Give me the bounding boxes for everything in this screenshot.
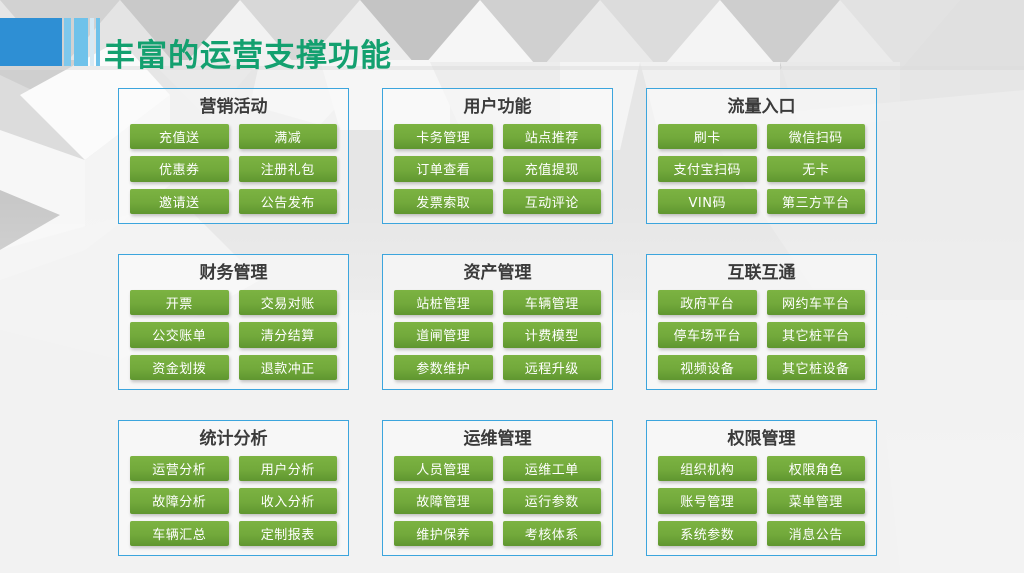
- page-title: 丰富的运营支撑功能: [104, 30, 392, 75]
- feature-button[interactable]: 站桩管理: [394, 290, 493, 315]
- feature-button[interactable]: 交易对账: [239, 290, 338, 315]
- card-title: 财务管理: [130, 261, 337, 285]
- feature-card: 用户功能 卡务管理 站点推荐 订单查看 充值提现 发票索取 互动评论: [382, 88, 613, 224]
- feature-button[interactable]: 公告发布: [239, 189, 338, 214]
- card-button-group: 刷卡 微信扫码 支付宝扫码 无卡 VIN码 第三方平台: [658, 124, 865, 214]
- feature-button[interactable]: 用户分析: [239, 456, 338, 481]
- feature-button[interactable]: 考核体系: [503, 521, 602, 546]
- card-title: 统计分析: [130, 427, 337, 451]
- feature-button[interactable]: 清分结算: [239, 322, 338, 347]
- feature-button[interactable]: 刷卡: [658, 124, 757, 149]
- header-accent-bar-light1: [74, 18, 88, 66]
- slide-root: 丰富的运营支撑功能 营销活动 充值送 满减 优惠券 注册礼包 邀请送 公告发布 …: [0, 0, 1024, 573]
- feature-button[interactable]: 优惠券: [130, 156, 229, 181]
- feature-button[interactable]: 组织机构: [658, 456, 757, 481]
- feature-button[interactable]: 计费模型: [503, 322, 602, 347]
- feature-button[interactable]: 注册礼包: [239, 156, 338, 181]
- feature-button[interactable]: 满减: [239, 124, 338, 149]
- feature-card: 流量入口 刷卡 微信扫码 支付宝扫码 无卡 VIN码 第三方平台: [646, 88, 877, 224]
- card-button-group: 站桩管理 车辆管理 道闸管理 计费模型 参数维护 远程升级: [394, 290, 601, 380]
- card-button-group: 运营分析 用户分析 故障分析 收入分析 车辆汇总 定制报表: [130, 456, 337, 546]
- card-button-group: 开票 交易对账 公交账单 清分结算 资金划拨 退款冲正: [130, 290, 337, 380]
- feature-card: 统计分析 运营分析 用户分析 故障分析 收入分析 车辆汇总 定制报表: [118, 420, 349, 556]
- feature-button[interactable]: 定制报表: [239, 521, 338, 546]
- feature-button[interactable]: 远程升级: [503, 355, 602, 380]
- feature-button[interactable]: 政府平台: [658, 290, 757, 315]
- feature-card: 财务管理 开票 交易对账 公交账单 清分结算 资金划拨 退款冲正: [118, 254, 349, 390]
- feature-button[interactable]: 视频设备: [658, 355, 757, 380]
- feature-card: 营销活动 充值送 满减 优惠券 注册礼包 邀请送 公告发布: [118, 88, 349, 224]
- card-button-group: 政府平台 网约车平台 停车场平台 其它桩平台 视频设备 其它桩设备: [658, 290, 865, 380]
- feature-card: 互联互通 政府平台 网约车平台 停车场平台 其它桩平台 视频设备 其它桩设备: [646, 254, 877, 390]
- feature-button[interactable]: 权限角色: [767, 456, 866, 481]
- card-title: 权限管理: [658, 427, 865, 451]
- feature-button[interactable]: 收入分析: [239, 488, 338, 513]
- feature-button[interactable]: 充值提现: [503, 156, 602, 181]
- header-accent-bar-dark: [0, 18, 62, 66]
- feature-button[interactable]: 充值送: [130, 124, 229, 149]
- feature-button[interactable]: 微信扫码: [767, 124, 866, 149]
- feature-button[interactable]: VIN码: [658, 189, 757, 214]
- card-button-group: 充值送 满减 优惠券 注册礼包 邀请送 公告发布: [130, 124, 337, 214]
- card-button-group: 人员管理 运维工单 故障管理 运行参数 维护保养 考核体系: [394, 456, 601, 546]
- feature-button[interactable]: 无卡: [767, 156, 866, 181]
- feature-button[interactable]: 维护保养: [394, 521, 493, 546]
- feature-card: 运维管理 人员管理 运维工单 故障管理 运行参数 维护保养 考核体系: [382, 420, 613, 556]
- feature-button[interactable]: 发票索取: [394, 189, 493, 214]
- feature-button[interactable]: 退款冲正: [239, 355, 338, 380]
- feature-button[interactable]: 网约车平台: [767, 290, 866, 315]
- feature-button[interactable]: 公交账单: [130, 322, 229, 347]
- feature-button[interactable]: 系统参数: [658, 521, 757, 546]
- feature-button[interactable]: 车辆管理: [503, 290, 602, 315]
- card-button-group: 卡务管理 站点推荐 订单查看 充值提现 发票索取 互动评论: [394, 124, 601, 214]
- feature-button[interactable]: 故障分析: [130, 488, 229, 513]
- feature-button[interactable]: 运行参数: [503, 488, 602, 513]
- feature-button[interactable]: 运营分析: [130, 456, 229, 481]
- feature-button[interactable]: 开票: [130, 290, 229, 315]
- feature-button[interactable]: 参数维护: [394, 355, 493, 380]
- feature-button[interactable]: 第三方平台: [767, 189, 866, 214]
- feature-button[interactable]: 菜单管理: [767, 488, 866, 513]
- feature-button[interactable]: 站点推荐: [503, 124, 602, 149]
- card-title: 流量入口: [658, 95, 865, 119]
- feature-button[interactable]: 卡务管理: [394, 124, 493, 149]
- card-title: 营销活动: [130, 95, 337, 119]
- card-title: 资产管理: [394, 261, 601, 285]
- feature-button[interactable]: 互动评论: [503, 189, 602, 214]
- feature-button[interactable]: 停车场平台: [658, 322, 757, 347]
- feature-card-grid: 营销活动 充值送 满减 优惠券 注册礼包 邀请送 公告发布 用户功能 卡务管理 …: [118, 88, 878, 556]
- card-button-group: 组织机构 权限角色 账号管理 菜单管理 系统参数 消息公告: [658, 456, 865, 546]
- feature-button[interactable]: 车辆汇总: [130, 521, 229, 546]
- feature-button[interactable]: 订单查看: [394, 156, 493, 181]
- feature-button[interactable]: 人员管理: [394, 456, 493, 481]
- feature-button[interactable]: 消息公告: [767, 521, 866, 546]
- feature-card: 资产管理 站桩管理 车辆管理 道闸管理 计费模型 参数维护 远程升级: [382, 254, 613, 390]
- header-accent-bar-light3: [96, 18, 100, 66]
- feature-button[interactable]: 账号管理: [658, 488, 757, 513]
- feature-button[interactable]: 邀请送: [130, 189, 229, 214]
- header-accent-bar-light2: [90, 18, 94, 66]
- feature-button[interactable]: 其它桩平台: [767, 322, 866, 347]
- feature-card: 权限管理 组织机构 权限角色 账号管理 菜单管理 系统参数 消息公告: [646, 420, 877, 556]
- feature-button[interactable]: 支付宝扫码: [658, 156, 757, 181]
- card-title: 互联互通: [658, 261, 865, 285]
- feature-button[interactable]: 道闸管理: [394, 322, 493, 347]
- card-title: 运维管理: [394, 427, 601, 451]
- slide-header: 丰富的运营支撑功能: [0, 18, 1024, 66]
- feature-button[interactable]: 其它桩设备: [767, 355, 866, 380]
- header-accent-bar-mid: [64, 18, 71, 66]
- feature-button[interactable]: 资金划拨: [130, 355, 229, 380]
- card-title: 用户功能: [394, 95, 601, 119]
- feature-button[interactable]: 运维工单: [503, 456, 602, 481]
- feature-button[interactable]: 故障管理: [394, 488, 493, 513]
